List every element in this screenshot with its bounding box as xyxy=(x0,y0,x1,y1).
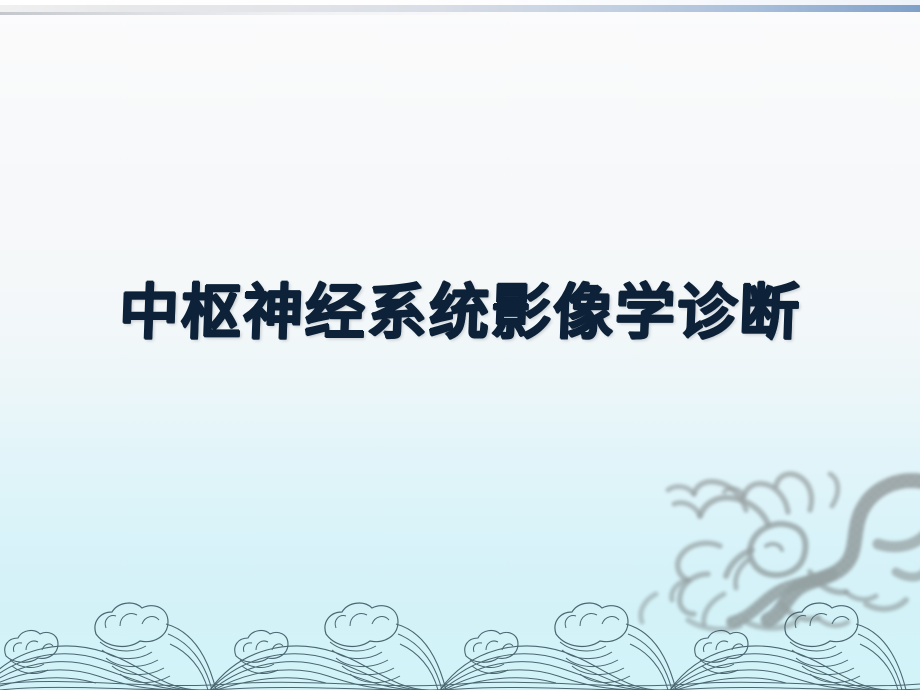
wave-illustration xyxy=(0,594,920,690)
title-container: 中枢神经系统影像学诊断 xyxy=(0,282,920,345)
presentation-slide: 中枢神经系统影像学诊断 xyxy=(0,0,920,690)
chinese-dragon-ornament xyxy=(596,454,920,654)
top-gradient-rule xyxy=(0,5,920,12)
top-rule-shadow xyxy=(0,12,480,15)
chinese-wave-pattern xyxy=(0,594,920,690)
dragon-illustration xyxy=(596,454,920,654)
slide-title: 中枢神经系统影像学诊断 xyxy=(118,282,802,345)
